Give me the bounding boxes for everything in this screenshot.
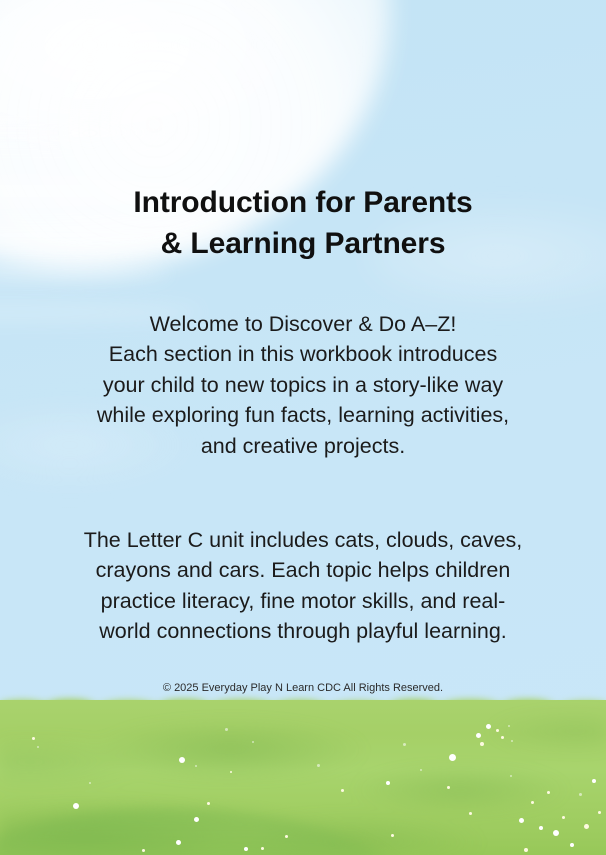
letter-c-paragraph: The Letter C unit includes cats, clouds,… (0, 525, 606, 647)
letter-c-line-4: world connections through playful learni… (99, 619, 507, 643)
page-title-line-1: Introduction for Parents (133, 186, 472, 219)
page-title-line-2: & Learning Partners (161, 227, 446, 260)
intro-paragraph: Welcome to Discover & Do A–Z! Each secti… (0, 309, 606, 462)
workbook-intro-page: Introduction for Parents & Learning Part… (0, 0, 606, 855)
copyright-notice: © 2025 Everyday Play N Learn CDC All Rig… (0, 681, 606, 696)
intro-line-4: while exploring fun facts, learning acti… (97, 403, 509, 427)
page-title: Introduction for Parents & Learning Part… (0, 182, 606, 264)
letter-c-line-1: The Letter C unit includes cats, clouds,… (84, 528, 523, 552)
letter-c-line-3: practice literacy, fine motor skills, an… (101, 589, 506, 613)
intro-line-3: your child to new topics in a story-like… (103, 373, 503, 397)
intro-line-2: Each section in this workbook introduces (109, 342, 497, 366)
intro-line-1: Welcome to Discover & Do A–Z! (150, 312, 457, 336)
letter-c-line-2: crayons and cars. Each topic helps child… (96, 558, 511, 582)
intro-line-5: and creative projects. (201, 434, 405, 458)
page-content: Introduction for Parents & Learning Part… (0, 0, 606, 855)
